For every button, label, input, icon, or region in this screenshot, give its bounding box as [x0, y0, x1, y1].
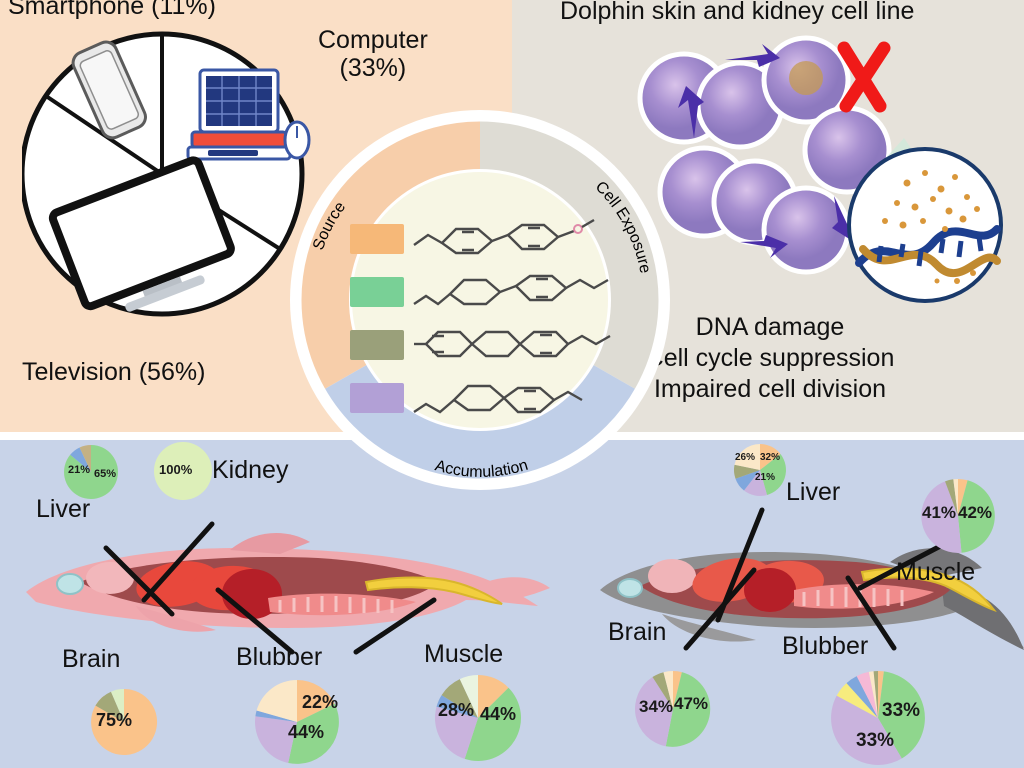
pie-left-blubber-value-2: 44% — [288, 722, 324, 743]
organ-label-right-muscle: Muscle — [896, 558, 975, 587]
pie-right-blubber-value-1: 33% — [882, 700, 920, 722]
molecule-structure-3 — [412, 321, 630, 367]
source-label-smartphone: Smartphone (11%) — [8, 0, 216, 21]
pie-right-brain-value-2: 47% — [674, 694, 708, 714]
pie-right-brain-value-1: 34% — [639, 697, 673, 717]
pie-left-brain-value: 75% — [96, 710, 132, 731]
outcome-dna-damage: DNA damage — [646, 312, 895, 343]
molecule-swatch-1 — [350, 224, 404, 254]
pie-right-muscle-value-2: 42% — [958, 503, 992, 523]
molecule-structure-1 — [412, 215, 612, 261]
source-label-television: Television (56%) — [22, 358, 205, 387]
pie-left-muscle-value-1: 28% — [438, 700, 474, 721]
molecule-swatch-2 — [350, 277, 404, 307]
cell-exposure-outcomes: DNA damage Cell cycle suppression Impair… — [646, 312, 895, 404]
graphical-abstract: Smartphone (11%) Computer (33%) Televisi… — [0, 0, 1024, 768]
organ-label-right-liver: Liver — [786, 478, 840, 507]
pie-right-muscle-value-1: 41% — [922, 503, 956, 523]
pie-left-liver-value-1: 21% — [68, 464, 90, 476]
molecule-structure-4 — [412, 374, 612, 420]
organ-label-left-brain: Brain — [62, 645, 120, 674]
pie-right-liver-value-3: 21% — [755, 472, 775, 483]
pie-right-liver-value-1: 26% — [735, 452, 755, 463]
pie-right-blubber-value-2: 33% — [856, 730, 894, 752]
molecule-row-3 — [350, 321, 620, 367]
dna-damage-bubble — [845, 145, 1005, 305]
organ-label-left-blubber: Blubber — [236, 643, 322, 672]
source-label-computer-line2: (33%) — [318, 54, 428, 82]
outcome-cell-division: Impaired cell division — [646, 374, 895, 405]
pie-left-blubber-value-1: 22% — [302, 692, 338, 713]
source-label-computer: Computer (33%) — [318, 26, 428, 82]
molecule-swatch-3 — [350, 330, 404, 360]
source-device-pie — [22, 22, 302, 322]
molecule-row-4 — [350, 374, 620, 420]
molecule-structure-2 — [412, 268, 622, 314]
organ-label-right-blubber: Blubber — [782, 632, 868, 661]
pie-left-muscle-value-2: 44% — [480, 704, 516, 725]
outcome-cell-cycle: Cell cycle suppression — [646, 343, 895, 374]
molecule-row-1 — [350, 215, 620, 261]
source-label-computer-line1: Computer — [318, 26, 428, 54]
organ-label-left-kidney: Kidney — [212, 456, 288, 485]
pie-left-kidney-value: 100% — [159, 462, 192, 477]
molecule-row-2 — [350, 268, 620, 314]
molecule-swatch-4 — [350, 383, 404, 413]
pie-right-liver-value-2: 32% — [760, 452, 780, 463]
organ-label-left-muscle: Muscle — [424, 640, 503, 669]
molecule-legend — [350, 215, 620, 415]
dolphin-left-illustration — [18, 520, 558, 650]
organ-label-left-liver: Liver — [36, 495, 90, 524]
pie-left-liver-value-2: 65% — [94, 468, 116, 480]
organ-label-right-brain: Brain — [608, 618, 666, 647]
